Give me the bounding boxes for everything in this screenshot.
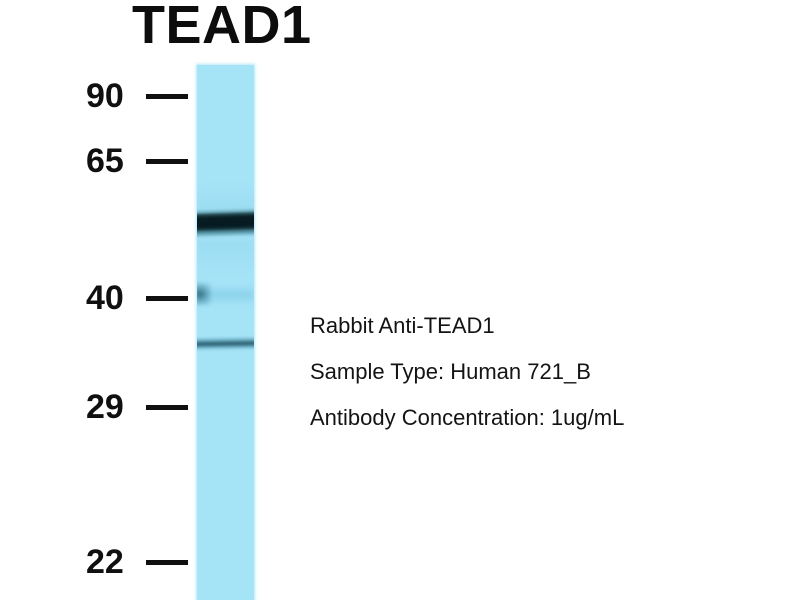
marker-label-40: 40 [86,281,144,315]
marker-tick-icon [146,159,188,164]
faint-band-edge [197,283,211,305]
annotation-antibody: Rabbit Anti-TEAD1 [310,303,740,349]
lane-haze-mid [197,240,254,274]
marker-65: 65 [86,141,190,181]
lower-band [197,337,254,351]
marker-label-65: 65 [86,144,144,178]
primary-band-core [197,212,254,231]
marker-90: 90 [86,76,190,116]
annotation-concentration: Antibody Concentration: 1ug/mL [310,395,740,441]
marker-22: 22 [86,542,190,582]
western-blot-figure: TEAD1 90 65 40 29 22 R [0,0,800,600]
marker-29: 29 [86,387,190,427]
marker-tick-icon [146,94,188,99]
annotation-block: Rabbit Anti-TEAD1 Sample Type: Human 721… [310,303,740,441]
marker-label-90: 90 [86,79,144,113]
marker-tick-icon [146,296,188,301]
marker-label-29: 29 [86,390,144,424]
gel-lane [197,65,254,600]
marker-label-22: 22 [86,545,144,579]
marker-40: 40 [86,278,190,318]
page-title: TEAD1 [132,0,312,52]
marker-tick-icon [146,560,188,565]
marker-tick-icon [146,405,188,410]
annotation-sample-type: Sample Type: Human 721_B [310,349,740,395]
